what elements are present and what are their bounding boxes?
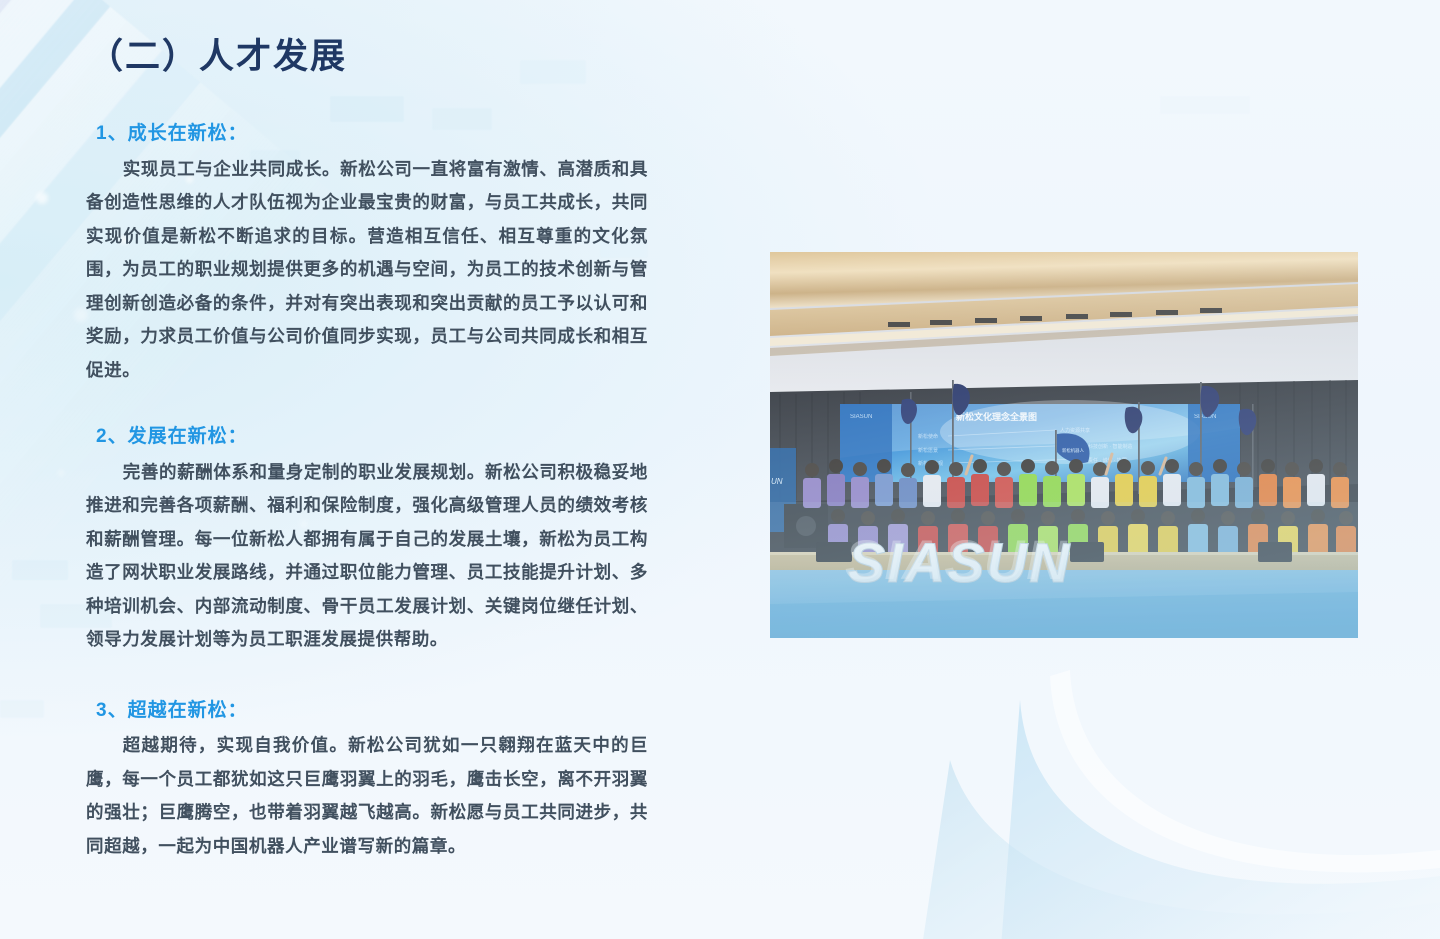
section-development-body: 完善的薪酬体系和量身定制的职业发展规划。新松公司积极稳妥地推进和完善各项薪酬、福… [86, 456, 648, 657]
text-column: 1、成长在新松： 实现员工与企业共同成长。新松公司一直将富有激情、高潜质和具备创… [86, 120, 648, 863]
section-spacer-1 [86, 387, 648, 423]
section-growth-heading: 1、成长在新松： [86, 120, 648, 149]
section-transcend-body: 超越期待，实现自我价值。新松公司犹如一只翱翔在蓝天中的巨鹰，每一个员工都犹如这只… [86, 729, 648, 863]
section-transcend: 3、超越在新松： 超越期待，实现自我价值。新松公司犹如一只翱翔在蓝天中的巨鹰，每… [86, 697, 648, 864]
page-title: （二）人才发展 [88, 36, 347, 78]
section-transcend-heading: 3、超越在新松： [86, 697, 648, 726]
section-spacer-2 [86, 657, 648, 697]
section-growth-body: 实现员工与企业共同成长。新松公司一直将富有激情、高潜质和具备创造性思维的人才队伍… [86, 153, 648, 388]
group-photo: 新松文化理念全景图 新松使命 新松愿景 新松价值观 人力资源共享 科技创新 · … [770, 252, 1358, 638]
section-growth: 1、成长在新松： 实现员工与企业共同成长。新松公司一直将富有激情、高潜质和具备创… [86, 120, 648, 387]
group-photo-illustration: 新松文化理念全景图 新松使命 新松愿景 新松价值观 人力资源共享 科技创新 · … [770, 252, 1358, 638]
section-development-heading: 2、发展在新松： [86, 423, 648, 452]
section-development: 2、发展在新松： 完善的薪酬体系和量身定制的职业发展规划。新松公司积极稳妥地推进… [86, 423, 648, 657]
slide-canvas: （二）人才发展 1、成长在新松： 实现员工与企业共同成长。新松公司一直将富有激情… [0, 0, 1440, 939]
